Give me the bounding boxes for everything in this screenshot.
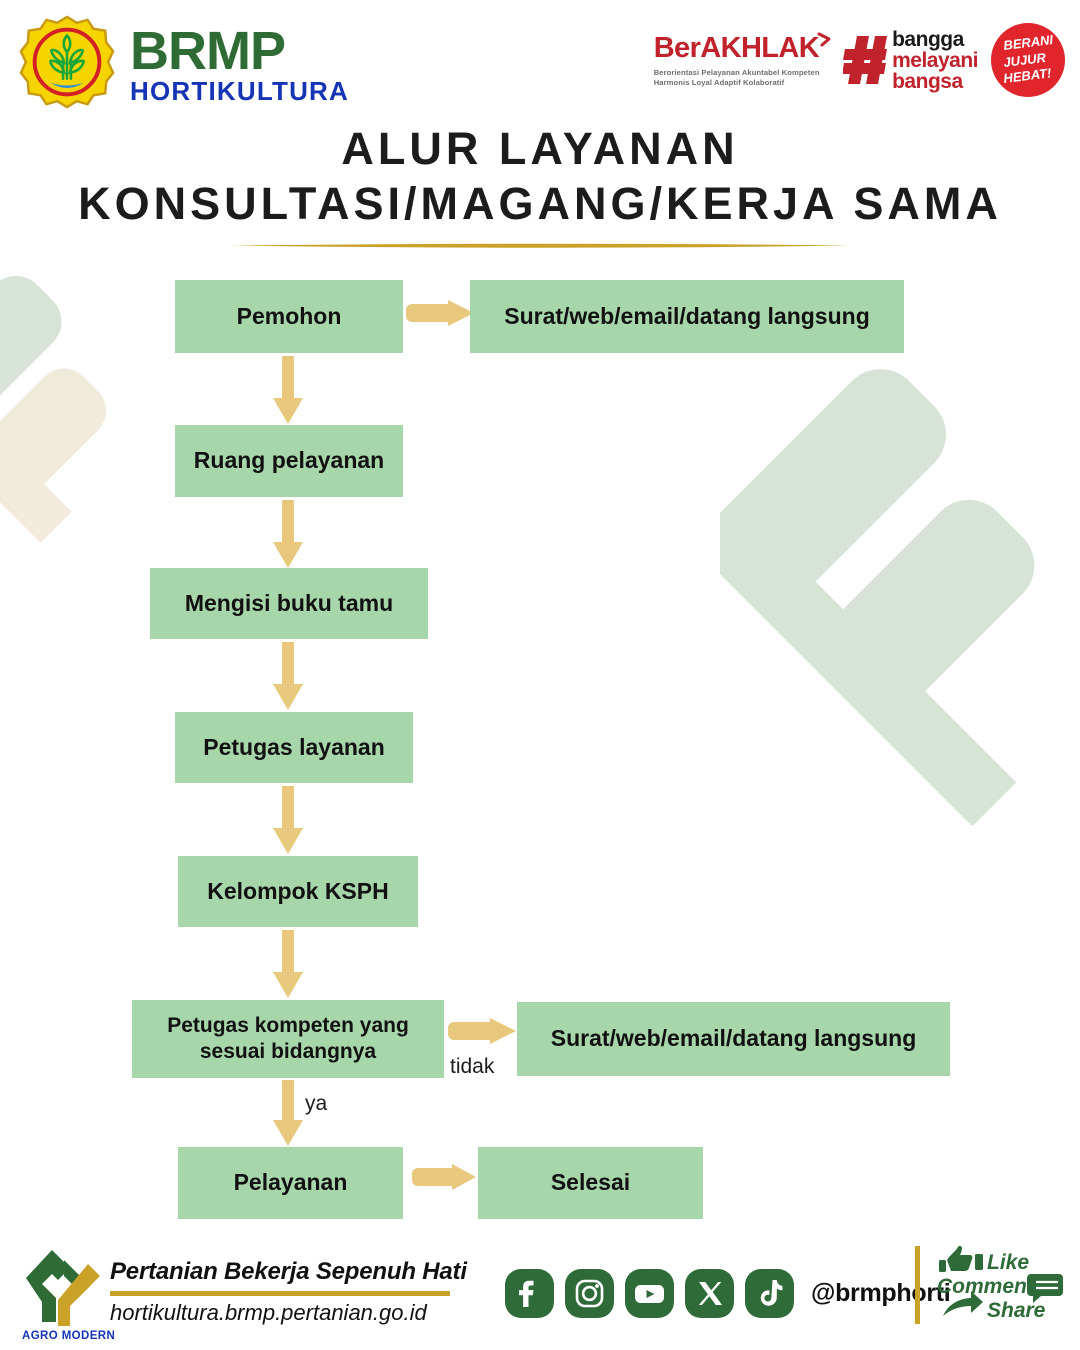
- berani-jujur-hebat-logo: BERANI JUJUR HEBAT!: [990, 22, 1066, 98]
- flow-node-surat-web-email-2[interactable]: Surat/web/email/datang langsung: [517, 1002, 950, 1076]
- flow-node-pelayanan[interactable]: Pelayanan: [178, 1147, 403, 1219]
- title-divider: [230, 242, 850, 249]
- footer: AGRO MODERN Pertanian Bekerja Sepenuh Ha…: [0, 1235, 1080, 1350]
- berakhlak-wordmark: BerAKHLAK: [654, 32, 831, 65]
- partner-logos: BerAKHLAK Berorientasi Pelayanan Akuntab…: [654, 22, 1066, 98]
- footer-vertical-divider: [915, 1246, 920, 1324]
- website-url[interactable]: hortikultura.brmp.pertanian.go.id: [110, 1300, 470, 1326]
- ministry-of-agriculture-emblem-icon: [18, 14, 116, 112]
- berakhlak-values-line2: Harmonis Loyal Adaptif Kolaboratif: [654, 78, 831, 88]
- flow-node-petugas-kompeten[interactable]: Petugas kompeten yang sesuai bidangnya: [132, 1000, 444, 1078]
- x-twitter-icon[interactable]: [685, 1269, 734, 1318]
- flow-node-selesai[interactable]: Selesai: [478, 1147, 703, 1219]
- flow-node-kelompok-ksph[interactable]: Kelompok KSPH: [178, 856, 418, 927]
- arrow-buku-to-petugas: [272, 642, 310, 712]
- arrow-pemohon-to-surat: [404, 300, 476, 338]
- arrow-pemohon-to-ruang: [272, 356, 310, 426]
- arrow-ruang-to-buku: [272, 500, 310, 570]
- edge-label-ya: ya: [305, 1092, 327, 1116]
- berakhlak-values-line1: Berorientasi Pelayanan Akuntabel Kompete…: [654, 68, 831, 78]
- flow-node-pemohon[interactable]: Pemohon: [175, 280, 403, 353]
- cta-share: Share: [987, 1299, 1046, 1320]
- tiktok-icon[interactable]: [745, 1269, 794, 1318]
- tagline-text: Pertanian Bekerja Sepenuh Hati: [110, 1258, 470, 1286]
- tagline-divider: [110, 1291, 450, 1296]
- berakhlak-logo: BerAKHLAK Berorientasi Pelayanan Akuntab…: [654, 32, 831, 89]
- berakhlak-swoosh-icon: [817, 32, 831, 52]
- edge-label-tidak: tidak: [450, 1055, 494, 1079]
- flow-node-surat-web-email-1[interactable]: Surat/web/email/datang langsung: [470, 280, 904, 353]
- brand-title: BRMP: [130, 26, 349, 77]
- flow-node-petugas-layanan[interactable]: Petugas layanan: [175, 712, 413, 783]
- arrow-kelompok-to-kompeten: [272, 930, 310, 1000]
- flow-node-mengisi-buku-tamu[interactable]: Mengisi buku tamu: [150, 568, 428, 639]
- tagline-block: Pertanian Bekerja Sepenuh Hati hortikult…: [110, 1258, 470, 1326]
- arrow-kompeten-to-surat-tidak: [446, 1018, 518, 1056]
- flow-node-ruang-pelayanan[interactable]: Ruang pelayanan: [175, 425, 403, 497]
- arrow-petugas-to-kelompok: [272, 786, 310, 856]
- title-line-2: KONSULTASI/MAGANG/KERJA SAMA: [0, 177, 1080, 232]
- brand-subtitle: HORTIKULTURA: [130, 79, 349, 103]
- title-line-1: ALUR LAYANAN: [0, 122, 1080, 177]
- like-comment-share-badge: Like Comment Share: [935, 1244, 1063, 1320]
- bangga-line1: bangga: [892, 29, 978, 50]
- agro-modern-caption: AGRO MODERN: [22, 1330, 115, 1342]
- page-title: ALUR LAYANAN KONSULTASI/MAGANG/KERJA SAM…: [0, 122, 1080, 254]
- instagram-icon[interactable]: [565, 1269, 614, 1318]
- berakhlak-values: Berorientasi Pelayanan Akuntabel Kompete…: [654, 68, 831, 89]
- bangga-line3: bangsa: [892, 71, 978, 92]
- header: BRMP HORTIKULTURA BerAKHLAK Berorientasi…: [0, 0, 1080, 118]
- arrow-pelayanan-to-selesai: [410, 1164, 478, 1202]
- berakhlak-prefix: Ber: [654, 32, 701, 64]
- berakhlak-main: AKHLAK: [700, 32, 819, 64]
- facebook-icon[interactable]: [505, 1269, 554, 1318]
- bangga-melayani-bangsa-logo: bangga melayani bangsa: [843, 29, 978, 92]
- brand-lockup: BRMP HORTIKULTURA: [18, 14, 349, 112]
- bangga-line2: melayani: [892, 50, 978, 71]
- cta-comment: Comment: [937, 1275, 1035, 1298]
- hashtag-icon: [843, 34, 887, 86]
- social-handle: @brmphorti: [811, 1279, 950, 1308]
- youtube-icon[interactable]: [625, 1269, 674, 1318]
- social-links: @brmphorti: [505, 1269, 950, 1318]
- cta-like: Like: [987, 1251, 1029, 1274]
- agro-modern-logo-icon: [18, 1244, 110, 1336]
